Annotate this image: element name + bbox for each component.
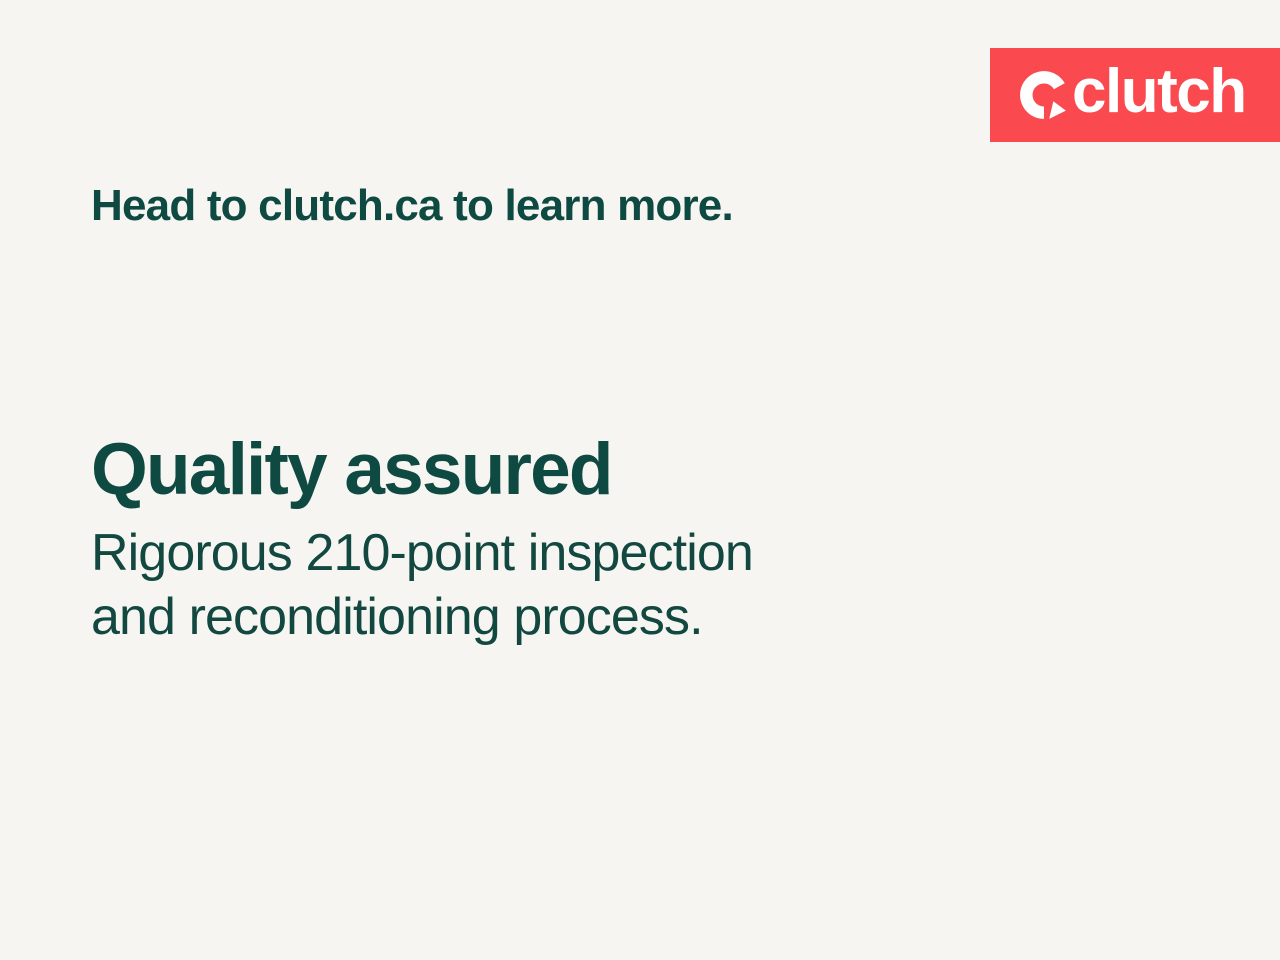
brand-banner: clutch xyxy=(990,48,1280,142)
subheadline: Rigorous 210-point inspection and recond… xyxy=(91,521,951,650)
subheadline-line-2: and reconditioning process. xyxy=(91,585,951,649)
tagline-text: Head to clutch.ca to learn more. xyxy=(91,180,733,233)
brand-lockup: clutch xyxy=(1018,64,1246,126)
clutch-c-mark-icon xyxy=(1018,69,1070,121)
brand-wordmark: clutch xyxy=(1072,61,1246,123)
headline-block: Quality assured Rigorous 210-point inspe… xyxy=(91,432,1091,650)
subheadline-line-1: Rigorous 210-point inspection xyxy=(91,521,951,585)
page-title: Quality assured xyxy=(91,432,1091,509)
